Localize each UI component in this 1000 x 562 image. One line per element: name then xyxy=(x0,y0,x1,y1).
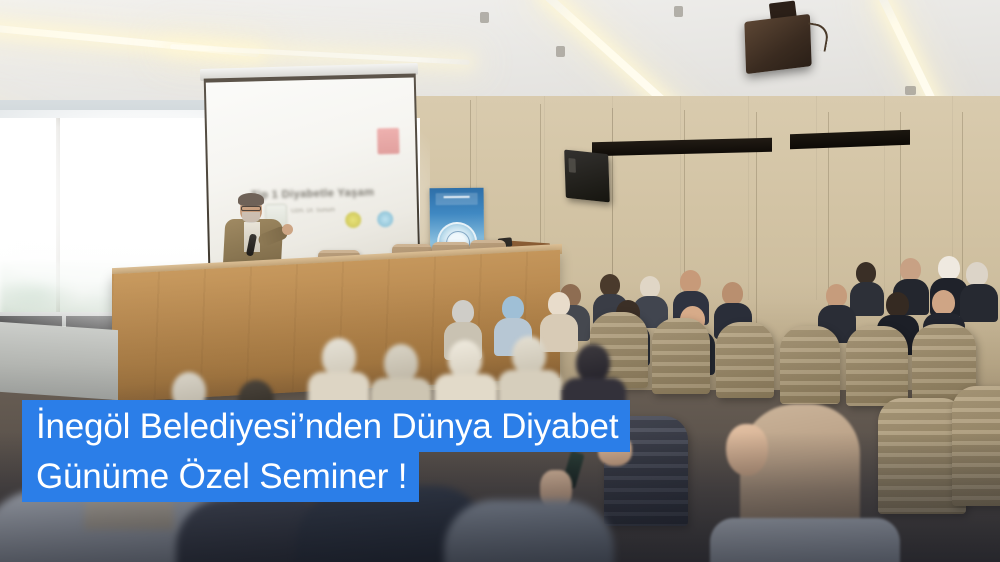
auditorium-seat xyxy=(952,386,1000,506)
slide-graphic-icon xyxy=(377,211,393,227)
auditorium-seat xyxy=(652,318,710,394)
slide-logo-icon xyxy=(377,128,400,155)
ceiling-sensor-icon xyxy=(480,12,489,23)
foreground-attendee xyxy=(444,500,614,562)
glasses-icon xyxy=(241,206,261,211)
ceiling-sensor-icon xyxy=(556,46,565,57)
news-photo: Tip 1 Diyabetle Yaşam Uzm. Dr. Sunum xyxy=(0,0,1000,562)
auditorium-seat xyxy=(780,326,840,404)
wall-speaker-icon xyxy=(564,150,610,203)
foreground-attendee-face xyxy=(726,424,768,476)
headline-overlay: İnegöl Belediyesi’nden Dünya Diyabet Gün… xyxy=(22,400,630,502)
ceiling-sensor-icon xyxy=(674,6,683,17)
presenter-hand xyxy=(282,224,293,235)
foreground-attendee xyxy=(700,400,910,562)
presenter-hair xyxy=(238,193,264,206)
auditorium-seat xyxy=(846,326,908,406)
foreground-attendee-body xyxy=(710,518,900,562)
auditorium-seat xyxy=(716,322,774,398)
ceiling-projector-icon xyxy=(744,14,811,74)
slide-graphic-icon xyxy=(345,212,361,228)
rollup-banner-title xyxy=(436,193,478,205)
headline-line-2: Günüme Özel Seminer ! xyxy=(22,452,419,502)
ceiling-sensor-icon xyxy=(905,86,916,95)
presenter-beard xyxy=(242,212,260,223)
headline-line-1: İnegöl Belediyesi’nden Dünya Diyabet xyxy=(22,400,630,452)
